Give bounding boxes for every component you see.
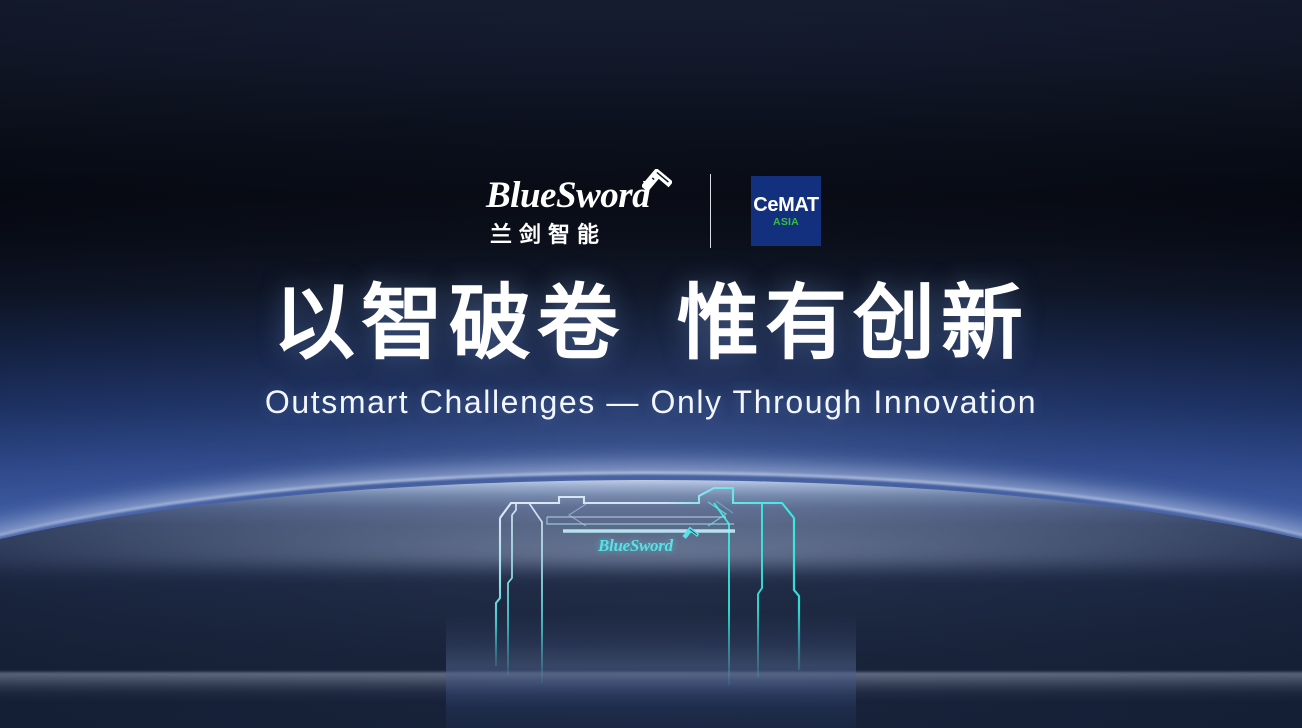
bluesword-wordmark: BlueSword bbox=[486, 177, 666, 214]
cemat-logo: CeMAT ASIA bbox=[751, 176, 821, 246]
headline-right: 惟有创新 bbox=[677, 278, 1029, 369]
bluesword-chinese-name: 兰剑智能 bbox=[486, 224, 666, 246]
logo-row: BlueSword 兰剑智能 CeMAT ASIA bbox=[0, 166, 1302, 256]
cemat-region: ASIA bbox=[773, 217, 799, 228]
poster-canvas: BlueSword BlueSword 兰剑智能 bbox=[0, 0, 1302, 728]
subheadline: Outsmart Challenges — Only Through Innov… bbox=[0, 383, 1302, 421]
headline-left: 以智破卷 bbox=[273, 278, 625, 369]
logo-divider bbox=[710, 174, 711, 248]
headline: 以智破卷惟有创新 bbox=[0, 283, 1302, 365]
bluesword-logo: BlueSword 兰剑智能 bbox=[481, 169, 666, 253]
cemat-name: CeMAT bbox=[753, 195, 818, 215]
bluesword-flag-mark-icon bbox=[642, 169, 672, 199]
